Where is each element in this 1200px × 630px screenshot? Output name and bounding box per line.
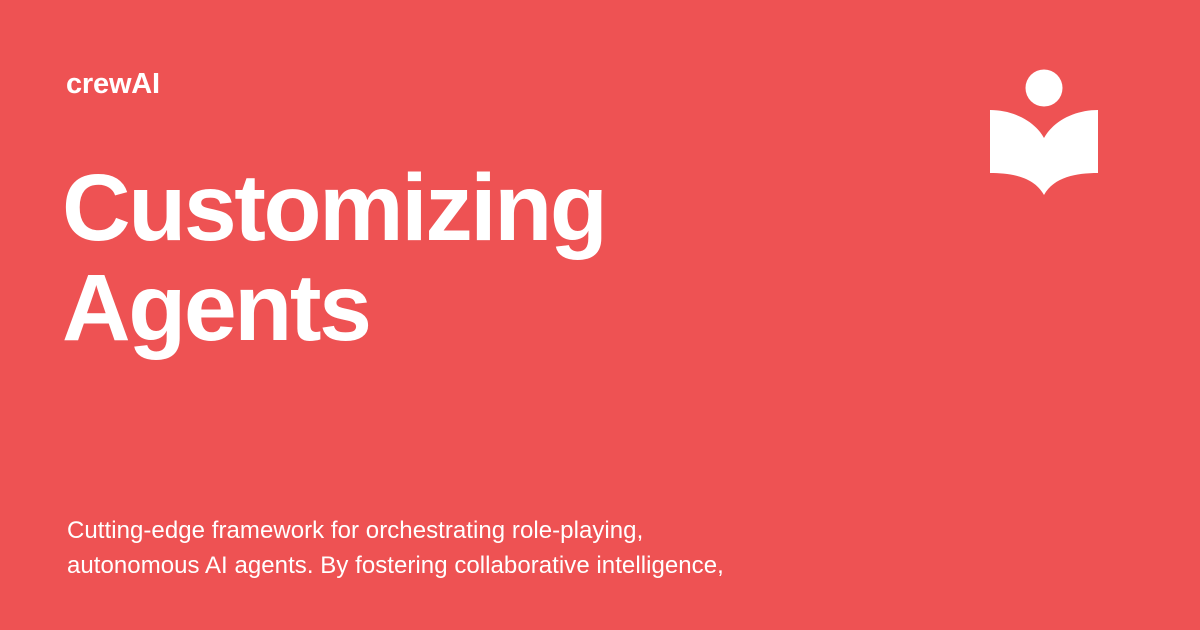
brand-wordmark: crewAI xyxy=(66,70,160,99)
description-line-2: autonomous AI agents. By fostering colla… xyxy=(67,548,897,583)
page-title: Customizing Agents xyxy=(62,158,902,358)
page-description: Cutting-edge framework for orchestrating… xyxy=(67,513,897,583)
open-graph-card: crewAI Customizing Agents Cutting-edge f… xyxy=(0,0,1200,630)
description-line-1: Cutting-edge framework for orchestrating… xyxy=(67,513,897,548)
open-book-reader-icon xyxy=(982,62,1106,202)
